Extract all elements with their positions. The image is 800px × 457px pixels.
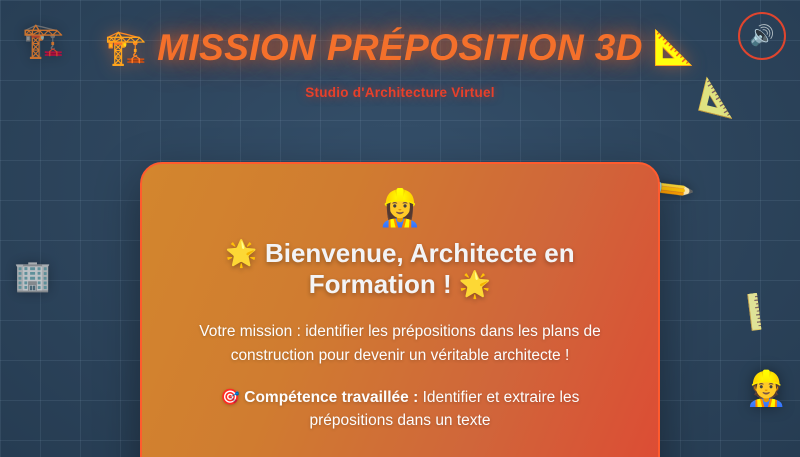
triangular-ruler-icon: 📐: [653, 31, 695, 65]
woman-construction-worker-icon: 👷‍♀️: [176, 190, 624, 226]
skill-line: 🎯 Compétence travaillée : Identifier et …: [176, 386, 624, 433]
title-row: 🏗️ MISSION PRÉPOSITION 3D 📐: [0, 22, 800, 74]
page-title: MISSION PRÉPOSITION 3D: [157, 27, 643, 69]
welcome-card: 👷‍♀️ 🌟 Bienvenue, Architecte en Formatio…: [140, 162, 660, 457]
app-canvas: 🏗️ 🏢 📐 📏 👷 ✏️ 🔊 🏗️ MISSION PRÉPOSITION 3…: [0, 0, 800, 457]
skill-label: Compétence travaillée :: [244, 389, 418, 406]
speaker-icon: 🔊: [750, 26, 775, 46]
office-building-icon: 🏢: [14, 262, 51, 292]
page-subtitle: Studio d'Architecture Virtuel: [0, 85, 800, 100]
construction-worker-icon: 👷: [745, 372, 787, 406]
page-header: 🏗️ MISSION PRÉPOSITION 3D 📐 Studio d'Arc…: [0, 0, 800, 100]
sound-toggle-button[interactable]: 🔊: [738, 12, 786, 60]
mission-description: Votre mission : identifier les prépositi…: [176, 320, 624, 367]
crane-icon: 🏗️: [105, 31, 147, 65]
welcome-heading: 🌟 Bienvenue, Architecte en Formation ! 🌟: [176, 238, 624, 300]
target-icon: 🎯: [221, 389, 240, 406]
straight-ruler-icon: 📏: [730, 290, 778, 337]
